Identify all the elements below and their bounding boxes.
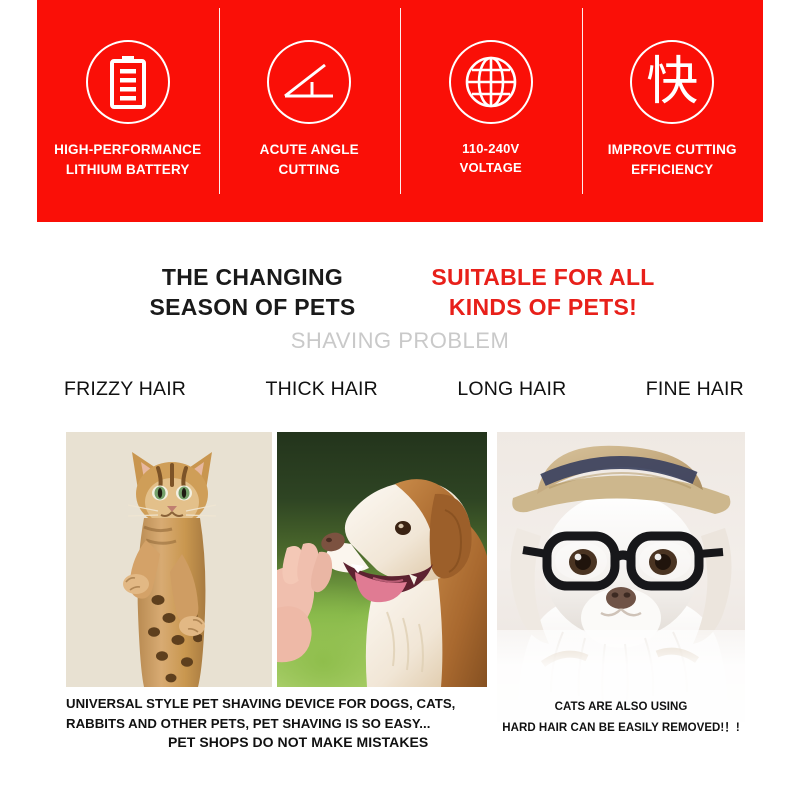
caption-right: CATS ARE ALSO USING HARD HAIR CAN BE EAS… — [497, 697, 745, 740]
product-infographic-page: HIGH-PERFORMANCE LITHIUM BATTERY ACUTE A… — [0, 0, 800, 800]
brown-white-dog-photo — [277, 432, 487, 687]
caption-left-secondary: PET SHOPS DO NOT MAKE MISTAKES — [168, 734, 498, 750]
photo-panel-row — [0, 0, 800, 800]
white-dog-glasses-photo — [497, 432, 745, 722]
bengal-cat-photo — [66, 432, 272, 687]
caption-left-primary: UNIVERSAL STYLE PET SHAVING DEVICE FOR D… — [66, 694, 486, 734]
